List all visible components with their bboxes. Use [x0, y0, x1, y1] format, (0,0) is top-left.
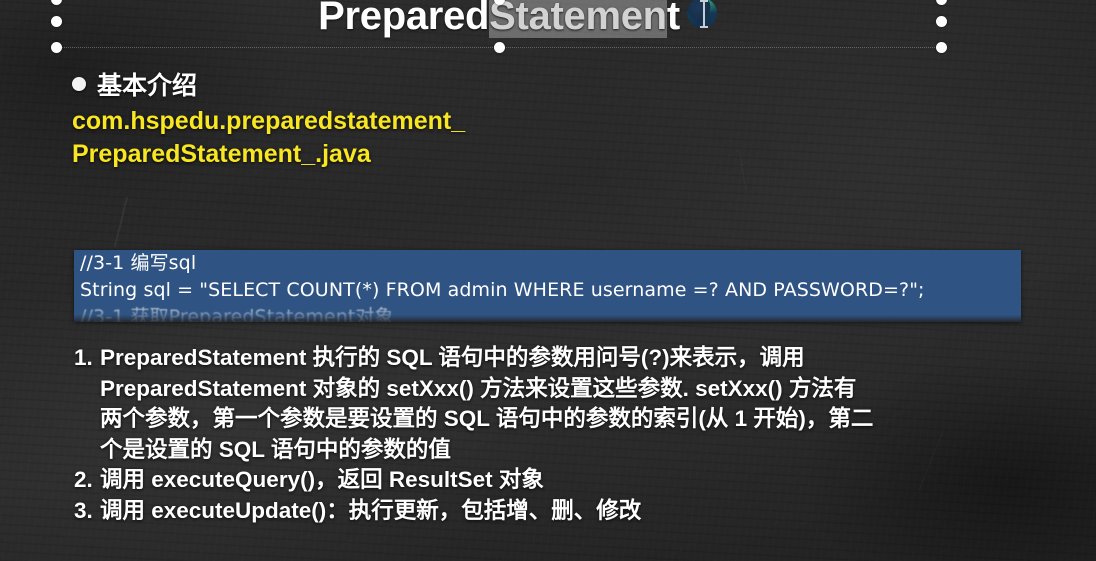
page-title[interactable]: PreparedStatement: [57, 0, 941, 39]
list-item-number: 3.: [74, 496, 100, 527]
list-item-line: 调用 executeQuery()，返回 ResultSet 对象: [100, 465, 1084, 496]
list-item-line: 两个参数，第一个参数是要设置的 SQL 语句中的参数的索引(从 1 开始)，第二: [100, 404, 1084, 435]
handle-middle-right[interactable]: [936, 16, 947, 27]
numbered-notes-list: 1. PreparedStatement 执行的 SQL 语句中的参数用问号(?…: [74, 343, 1084, 526]
list-item: 3. 调用 executeUpdate()：执行更新，包括增、删、修改: [74, 496, 1084, 527]
list-item-body: 调用 executeQuery()，返回 ResultSet 对象: [100, 465, 1084, 496]
code-snippet-block[interactable]: //3-1 编写sql String sql = "SELECT COUNT(*…: [74, 250, 1021, 322]
handle-bottom-right[interactable]: [936, 42, 947, 53]
title-prefix: Prepared: [318, 0, 489, 38]
list-item-number: 2.: [74, 465, 100, 496]
java-file-path-line-2: PreparedStatement_.java: [72, 140, 371, 168]
text-cursor-ibeam-icon: [703, 0, 705, 28]
title-selected-range: Statemen: [489, 0, 667, 38]
list-item-number: 1.: [74, 343, 100, 374]
list-item: 2. 调用 executeQuery()，返回 ResultSet 对象: [74, 465, 1084, 496]
title-placeholder[interactable]: PreparedStatement: [57, 0, 941, 48]
list-item-line: 调用 executeUpdate()：执行更新，包括增、删、修改: [100, 496, 1084, 527]
slide-canvas[interactable]: PreparedStatement 基本介绍 com.hspedu.prepar…: [0, 0, 1096, 561]
section-heading-label: 基本介绍: [97, 66, 197, 102]
code-line-sql: String sql = "SELECT COUNT(*) FROM admin…: [74, 277, 1021, 304]
list-item-body: PreparedStatement 执行的 SQL 语句中的参数用问号(?)来表…: [100, 343, 1084, 465]
list-item-body: 调用 executeUpdate()：执行更新，包括增、删、修改: [100, 496, 1084, 527]
section-heading: 基本介绍: [72, 66, 197, 102]
java-file-path-line-1: com.hspedu.preparedstatement_: [72, 107, 465, 135]
list-item-line: PreparedStatement 执行的 SQL 语句中的参数用问号(?)来表…: [100, 343, 1084, 374]
java-file-path: com.hspedu.preparedstatement_ PreparedSt…: [72, 105, 772, 171]
handle-bottom-center[interactable]: [494, 42, 505, 53]
handle-bottom-left[interactable]: [51, 42, 62, 53]
list-item: 1. PreparedStatement 执行的 SQL 语句中的参数用问号(?…: [74, 343, 1084, 465]
code-line-clipped: //3-1 获取PreparedStatement对象: [74, 304, 1021, 322]
filled-circle-bullet-icon: [72, 77, 86, 91]
list-item-line: PreparedStatement 对象的 setXxx() 方法来设置这些参数…: [100, 374, 1084, 405]
handle-middle-left[interactable]: [51, 16, 62, 27]
list-item-line: 个是设置的 SQL 语句中的参数的值: [100, 435, 1084, 466]
title-suffix: t: [667, 0, 680, 38]
texture-scratch: [114, 197, 129, 248]
code-line-comment: //3-1 编写sql: [74, 250, 1021, 277]
